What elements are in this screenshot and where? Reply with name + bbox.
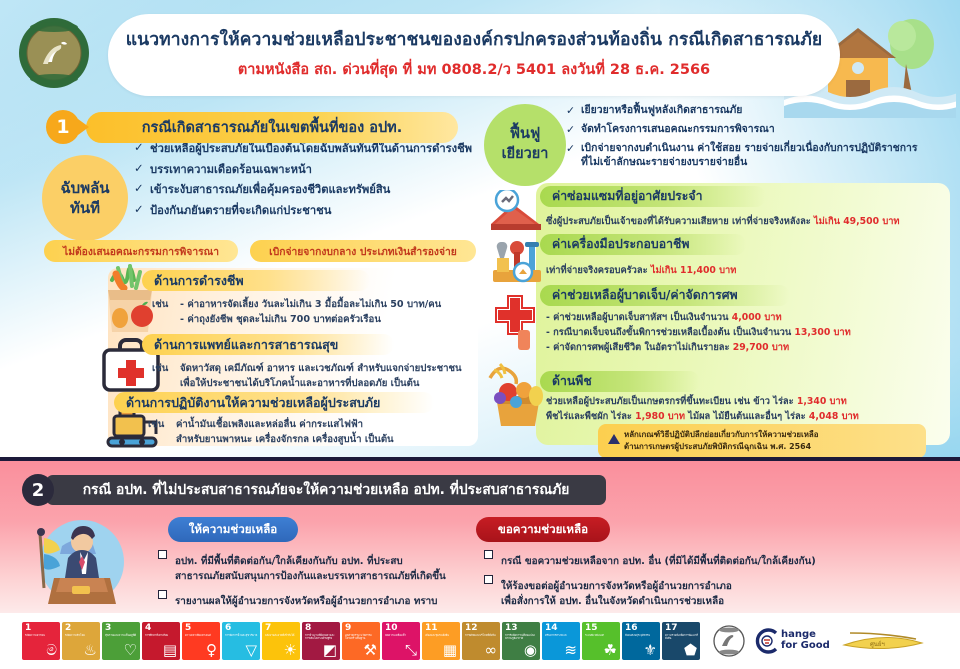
detail-amount: ไม่เกิน 11,400 บาท: [651, 265, 737, 276]
sdg-icon-2: 2ขจัดความหิวโหย♨: [62, 622, 100, 660]
change-for-good-text: hange for Good: [781, 630, 830, 652]
central-budget-pill-text: เบิกจ่ายจากงบกลาง ประเภทเงินสำรองจ่าย: [269, 243, 457, 260]
sdg-icon-9: 9อุตสาหกรรม นวัตกรรม โครงสร้างพื้นฐาน⚒: [342, 622, 380, 660]
svg-text:ศูนย์ฯ: ศูนย์ฯ: [870, 640, 885, 648]
section-1-bullet-list: ช่วยเหลือผู้ประสบภัยในเบื้องต้นโดยฉับพลั…: [134, 143, 474, 226]
section-divider: [0, 457, 960, 461]
topic-livelihood-pill: ด้านการดำรงชีพ: [142, 270, 370, 291]
tools-icon: [489, 238, 545, 288]
detail-text: ซึ่งผู้ประสบภัยเป็นเจ้าของที่ได้รับความเ…: [546, 216, 814, 227]
give-assistance-checklist: อปท. ที่มีพื้นที่ติดต่อกัน/ใกล้เคียงกันก…: [158, 549, 488, 614]
crops-details: ช่วยเหลือผู้ประสบภัยเป็นเกษตรกรที่ขึ้นทะ…: [546, 394, 859, 424]
central-budget-pill: เบิกจ่ายจากงบกลาง ประเภทเงินสำรองจ่าย: [250, 240, 476, 262]
sdg-label: การผลิตและบริโภคที่ยั่งยืน: [462, 633, 500, 637]
sdg-glyph-icon: ▦: [443, 643, 457, 658]
no-committee-pill: ไม่ต้องเสนอคณะกรรมการพิจารณา: [44, 240, 238, 262]
sdg-label: ขจัดความยากจน: [22, 633, 60, 637]
note-line-2: ด้านการเกษตรผู้ประสบภัยพิบัติกรณีฉุกเฉิน…: [624, 441, 819, 453]
checkbox-icon[interactable]: [158, 550, 167, 559]
topic-livelihood-details: เช่น- ค่าอาหารจัดเลี้ยง วันละไม่เกิน 3 ม…: [152, 298, 441, 328]
infographic-page: แนวทางการให้ความช่วยเหลือประชาชนขององค์ก…: [0, 0, 960, 669]
sdg-label: ความร่วมมือเพื่อการพัฒนาที่ยั่งยืน: [662, 633, 700, 641]
sdg-label: อุตสาหกรรม นวัตกรรม โครงสร้างพื้นฐาน: [342, 633, 380, 641]
equipment-cost-detail: เท่าที่จ่ายจริงครอบครัวละ ไม่เกิน 11,400…: [546, 263, 736, 278]
sdg-icon-5: 5ความเท่าเทียมทางเพศ♀: [182, 622, 220, 660]
sdg-icon-row: 1ขจัดความยากจนම2ขจัดความหิวโหย♨3สุขภาพแล…: [22, 622, 702, 660]
sdg-number: 12: [462, 622, 500, 633]
checklist-line-2: เพื่อสั่งการให้ อปท. อื่นในจังหวัดดำเนิน…: [501, 595, 884, 610]
topic-operations-title: ด้านการปฏิบัติงานให้ความช่วยเหลือผู้ประส…: [126, 393, 380, 413]
sdg-glyph-icon: ☘: [604, 643, 617, 658]
sdg-label: ลดความเหลื่อมล้ำ: [382, 633, 420, 637]
sdg-label: การศึกษาที่เท่าเทียม: [142, 633, 180, 637]
sdg-footer-bar: 1ขจัดความยากจนම2ขจัดความหิวโหย♨3สุขภาพแล…: [0, 613, 960, 669]
regulation-note-box: หลักเกณฑ์วิธีปฏิบัติปลีกย่อยเกี่ยวกับการ…: [598, 424, 926, 458]
topic-operations-details: เช่นค่าน้ำมันเชื้อเพลิงและหล่อลื่น ค่ากร…: [148, 418, 394, 448]
sdg-label: การจ้างงานที่มีคุณค่าและการเติบโตทางเศรษ…: [302, 633, 340, 641]
repair-cost-detail: ซึ่งผู้ประสบภัยเป็นเจ้าของที่ได้รับความเ…: [546, 214, 900, 229]
list-item-text: เบิกจ่ายจากงบดำเนินงาน ค่าใช้สอย รายจ่าย…: [581, 142, 917, 154]
detail-line: - ค่าถุงยังชีพ ชุดละไม่เกิน 700 บาทต่อคร…: [180, 314, 381, 325]
detail-amount: 4,000 บาท: [732, 312, 782, 323]
list-item: เบิกจ่ายจากงบดำเนินงาน ค่าใช้สอย รายจ่าย…: [566, 142, 958, 169]
sdg-glyph-icon: ♀: [206, 643, 217, 658]
detail-text: เท่าที่จ่ายจริงครอบครัวละ: [546, 265, 651, 276]
detail-line: - ค่าอาหารจัดเลี้ยง วันละไม่เกิน 3 มื้อม…: [180, 299, 441, 310]
section-2-heading: กรณี อปท. ที่ไม่ประสบสาธารณภัยจะให้ความช…: [46, 475, 606, 505]
sdg-glyph-icon: ▽: [245, 643, 257, 658]
detail-amount: 29,700 บาท: [733, 342, 789, 353]
repair-cost-pill: ค่าซ่อมแซมที่อยู่อาศัยประจำ: [540, 186, 766, 207]
list-item: จัดทำโครงการเสนอคณะกรรมการพิจารณา: [566, 123, 958, 137]
equipment-cost-title: ค่าเครื่องมือประกอบอาชีพ: [552, 235, 689, 254]
list-item: เข้าระงับสาธารณภัยเพื่อคุ้มครองชีวิตและท…: [134, 184, 474, 195]
detail-text: ช่วยเหลือผู้ประสบภัยเป็นเกษตรกรที่ขึ้นทะ…: [546, 396, 797, 407]
injury-funeral-title: ค่าช่วยเหลือผู้บาดเจ็บ/ค่าจัดการศพ: [552, 286, 738, 305]
sdg-icon-11: 11เมืองและชุมชนยั่งยืน▦: [422, 622, 460, 660]
give-assistance-tag-text: ให้ความช่วยเหลือ: [189, 521, 278, 539]
regulation-note-text: หลักเกณฑ์วิธีปฏิบัติปลีกย่อยเกี่ยวกับการ…: [624, 429, 819, 454]
change-for-good-logo-icon: [754, 626, 780, 656]
warning-triangle-icon: [608, 434, 620, 444]
thai-government-emblem-icon: [17, 16, 91, 90]
sdg-glyph-icon: ⤡: [405, 643, 417, 658]
sdg-number: 1: [22, 622, 60, 633]
detail-amount: 13,300 บาท: [794, 327, 850, 338]
medical-cross-icon: [492, 292, 544, 354]
detail-text-2: ไม้ผล ไม้ยืนต้นและอื่นๆ ไร่ละ: [685, 411, 809, 422]
sdg-glyph-icon: ⚒: [364, 643, 377, 658]
list-item-continuation: ที่ไม่เข้าลักษณะรายจ่ายงบรายจ่ายอื่น: [581, 156, 958, 170]
sdg-icon-16: 16สังคมสงบสุข ยุติธรรม⚜: [622, 622, 660, 660]
request-assistance-tag: ขอความช่วยเหลือ: [476, 517, 610, 542]
sdg-icon-6: 6การจัดการน้ำและสุขาภิบาล▽: [222, 622, 260, 660]
lead-label: เช่น: [152, 298, 180, 313]
checklist-line-1: รายงานผลให้ผู้อำนวยการจังหวัดหรือผู้อำนว…: [175, 596, 437, 607]
sdg-number: 5: [182, 622, 220, 633]
sdg-icon-13: 13การรับมือการเปลี่ยนแปลงสภาพภูมิอากาศ◉: [502, 622, 540, 660]
no-committee-pill-text: ไม่ต้องเสนอคณะกรรมการพิจารณา: [63, 243, 219, 260]
injury-funeral-pill: ค่าช่วยเหลือผู้บาดเจ็บ/ค่าจัดการศพ: [540, 285, 790, 306]
sdg-number: 6: [222, 622, 260, 633]
sdg-label: ระบบนิเวศบนบก: [582, 633, 620, 637]
topic-medical-details: เช่นจัดหาวัสดุ เคมีภัณฑ์ อาหาร และเวชภัณ…: [152, 362, 462, 392]
sdg-icon-3: 3สุขภาพและความเป็นอยู่ที่ดี♡: [102, 622, 140, 660]
section-1-number-badge: 1: [46, 110, 80, 144]
detail-line: ค่าน้ำมันเชื้อเพลิงและหล่อลื่น ค่ากระแสไ…: [176, 419, 363, 430]
detail-amount-2: 4,048 บาท: [809, 411, 859, 422]
list-item[interactable]: อปท. ที่มีพื้นที่ติดต่อกัน/ใกล้เคียงกันก…: [158, 549, 488, 585]
list-item: เยียวยาหรือฟื้นฟูหลังเกิดสาธารณภัย: [566, 104, 958, 118]
sdg-label: พลังงานสะอาดที่เข้าถึงได้: [262, 633, 300, 637]
lead-label: เช่น: [152, 362, 180, 377]
list-item[interactable]: กรณี ขอความช่วยเหลือจาก อปท. อื่น (ที่มิ…: [484, 549, 884, 570]
checkbox-icon[interactable]: [484, 575, 493, 584]
sdg-icon-17: 17ความร่วมมือเพื่อการพัฒนาที่ยั่งยืน⬟: [662, 622, 700, 660]
give-assistance-tag: ให้ความช่วยเหลือ: [168, 517, 298, 542]
immediate-label-line1: ฉับพลัน: [60, 178, 109, 198]
detail-amount: 1,340 บาท: [797, 396, 847, 407]
sdg-label: การรับมือการเปลี่ยนแปลงสภาพภูมิอากาศ: [502, 633, 540, 641]
checklist-highlight: ขอความช่วยเหลือจาก อปท. อื่น (ที่มิได้มี…: [525, 556, 816, 567]
detail-text: พืชไร่และพืชผัก ไร่ละ: [546, 411, 635, 422]
equipment-cost-pill: ค่าเครื่องมือประกอบอาชีพ: [540, 234, 746, 255]
harvest-basket-icon: [486, 360, 548, 430]
detail-line: เพื่อให้ประชาชนได้บริโภคน้ำและอาหารที่ปล…: [180, 378, 419, 389]
sdg-number: 11: [422, 622, 460, 633]
detail-line: จัดหาวัสดุ เคมีภัณฑ์ อาหาร และเวชภัณฑ์ ส…: [180, 363, 462, 374]
sdg-number: 15: [582, 622, 620, 633]
sdg-glyph-icon: ▤: [163, 643, 177, 658]
sdg-number: 16: [622, 622, 660, 633]
checkbox-icon[interactable]: [484, 550, 493, 559]
sdg-label: สุขภาพและความเป็นอยู่ที่ดี: [102, 633, 140, 637]
checklist-line-2: สาธารณภัยสนับสนุนการป้องกันและบรรเทาสาธา…: [175, 570, 488, 585]
topic-operations-pill: ด้านการปฏิบัติงานให้ความช่วยเหลือผู้ประส…: [114, 392, 434, 413]
list-item: ช่วยเหลือผู้ประสบภัยในเบื้องต้นโดยฉับพลั…: [134, 143, 474, 154]
sdg-label: ทรัพยากรทางทะเล: [542, 633, 580, 637]
sdg-label: สังคมสงบสุข ยุติธรรม: [622, 633, 660, 637]
sdg-number: 17: [662, 622, 700, 633]
list-item: ป้องกันภยันตรายที่จะเกิดแก่ประชาชน: [134, 205, 474, 216]
sdg-number: 3: [102, 622, 140, 633]
section-1-heading-text: กรณีเกิดสาธารณภัยในเขตพื้นที่ของ อปท.: [142, 116, 402, 139]
page-subtitle: ตามหนังสือ สถ. ด่วนที่สุด ที่ มท 0808.2/…: [238, 58, 710, 81]
sdg-icon-1: 1ขจัดความยากจนම: [22, 622, 60, 660]
sdg-number: 2: [62, 622, 100, 633]
list-item: บรรเทาความเดือดร้อนเฉพาะหน้า: [134, 164, 474, 175]
sdg-number: 7: [262, 622, 300, 633]
crops-pill: ด้านพืช: [540, 371, 700, 392]
sdg-glyph-icon: ◉: [524, 643, 537, 658]
roof-repair-icon: [489, 190, 543, 236]
cfg-line-2: for Good: [781, 641, 830, 652]
sdg-glyph-icon: ♡: [124, 643, 137, 658]
sdg-label: การจัดการน้ำและสุขาภิบาล: [222, 633, 260, 637]
note-line-1: หลักเกณฑ์วิธีปฏิบัติปลีกย่อยเกี่ยวกับการ…: [624, 429, 819, 441]
sdg-glyph-icon: ∞: [485, 643, 498, 658]
injury-funeral-details: - ค่าช่วยเหลือผู้บาดเจ็บสาหัสฯ เป็นเงินจ…: [546, 310, 851, 355]
detail-text: - กรณีบาดเจ็บจนถึงขั้นพิการช่วยเหลือเบื้…: [546, 327, 794, 338]
repair-cost-title: ค่าซ่อมแซมที่อยู่อาศัยประจำ: [552, 187, 702, 206]
sdg-number: 10: [382, 622, 420, 633]
detail-text: - ค่าจัดการศพผู้เสียชีวิต ในอัตราไม่เกิน…: [546, 342, 733, 353]
sdg-number: 13: [502, 622, 540, 633]
topic-medical-title: ด้านการแพทย์และการสาธารณสุข: [154, 335, 338, 355]
checklist-line-1: อปท. ที่มีพื้นที่ติดต่อกัน/ใกล้เคียงกันก…: [175, 556, 403, 567]
sdg-number: 9: [342, 622, 380, 633]
sdg-glyph-icon: ම: [46, 643, 57, 658]
header-title-card: แนวทางการให้ความช่วยเหลือประชาชนขององค์ก…: [108, 14, 840, 96]
sdg-label: เมืองและชุมชนยั่งยืน: [422, 633, 460, 637]
detail-line: สำหรับยานพาหนะ เครื่องจักรกล เครื่องสูบน…: [176, 434, 394, 445]
sdg-icon-7: 7พลังงานสะอาดที่เข้าถึงได้☀: [262, 622, 300, 660]
crops-title: ด้านพืช: [552, 372, 592, 391]
topic-medical-pill: ด้านการแพทย์และการสาธารณสุข: [142, 334, 394, 355]
list-item[interactable]: ให้ร้องขอต่อผู้อำนวยการจังหวัดหรือผู้อำน…: [484, 574, 884, 610]
checkbox-icon[interactable]: [158, 590, 167, 599]
request-assistance-checklist: กรณี ขอความช่วยเหลือจาก อปท. อื่น (ที่มิ…: [484, 549, 884, 614]
recovery-bullet-list: เยียวยาหรือฟื้นฟูหลังเกิดสาธารณภัย จัดทำ…: [566, 104, 958, 175]
checklist-prefix: กรณี: [501, 556, 525, 567]
immediate-label-line2: ทันที: [70, 198, 100, 218]
recovery-label-line2: เยียวยา: [502, 145, 549, 165]
sdg-number: 4: [142, 622, 180, 633]
partner-logos: hange for Good ศูนย์ฯ: [712, 624, 926, 658]
sdg-glyph-icon: ◩: [323, 643, 337, 658]
recovery-circle-label: ฟื้นฟู เยียวยา: [484, 104, 566, 186]
sdg-glyph-icon: ♨: [84, 643, 97, 658]
sdg-label: ขจัดความหิวโหย: [62, 633, 100, 637]
section-2-number-badge: 2: [22, 474, 54, 506]
official-podium-speaker-icon: [26, 516, 130, 608]
sdg-glyph-icon: ⬟: [684, 643, 697, 658]
sdg-icon-15: 15ระบบนิเวศบนบก☘: [582, 622, 620, 660]
dla-seal-logo-icon: [712, 624, 746, 658]
sdg-icon-14: 14ทรัพยากรทางทะเล≋: [542, 622, 580, 660]
sdg-icon-12: 12การผลิตและบริโภคที่ยั่งยืน∞: [462, 622, 500, 660]
request-assistance-tag-text: ขอความช่วยเหลือ: [498, 521, 588, 539]
section-1-heading: กรณีเกิดสาธารณภัยในเขตพื้นที่ของ อปท.: [86, 112, 458, 143]
page-title: แนวทางการให้ความช่วยเหลือประชาชนขององค์ก…: [126, 30, 823, 51]
topic-livelihood-title: ด้านการดำรงชีพ: [154, 271, 244, 291]
sdg-label: ความเท่าเทียมทางเพศ: [182, 633, 220, 637]
recovery-label-line1: ฟื้นฟู: [510, 125, 540, 145]
lead-label: เช่น: [148, 418, 176, 433]
immediate-relief-circle-label: ฉับพลัน ทันที: [42, 155, 128, 241]
checklist-line-1: ให้ร้องขอต่อผู้อำนวยการจังหวัดหรือผู้อำน…: [501, 581, 732, 592]
sdg-number: 8: [302, 622, 340, 633]
detail-text: - ค่าช่วยเหลือผู้บาดเจ็บสาหัสฯ เป็นเงินจ…: [546, 312, 732, 323]
sdg-glyph-icon: ☀: [284, 643, 297, 658]
thai-ribbon-logo-icon: ศูนย์ฯ: [840, 627, 926, 655]
section-2-heading-text: กรณี อปท. ที่ไม่ประสบสาธารณภัยจะให้ความช…: [83, 479, 570, 501]
detail-amount: 1,980 บาท: [635, 411, 685, 422]
sdg-icon-4: 4การศึกษาที่เท่าเทียม▤: [142, 622, 180, 660]
sdg-icon-8: 8การจ้างงานที่มีคุณค่าและการเติบโตทางเศร…: [302, 622, 340, 660]
sdg-icon-10: 10ลดความเหลื่อมล้ำ⤡: [382, 622, 420, 660]
sdg-glyph-icon: ≋: [564, 643, 577, 658]
sdg-number: 14: [542, 622, 580, 633]
detail-amount: ไม่เกิน 49,500 บาท: [814, 216, 900, 227]
sdg-glyph-icon: ⚜: [644, 643, 657, 658]
list-item[interactable]: รายงานผลให้ผู้อำนวยการจังหวัดหรือผู้อำนว…: [158, 589, 488, 610]
